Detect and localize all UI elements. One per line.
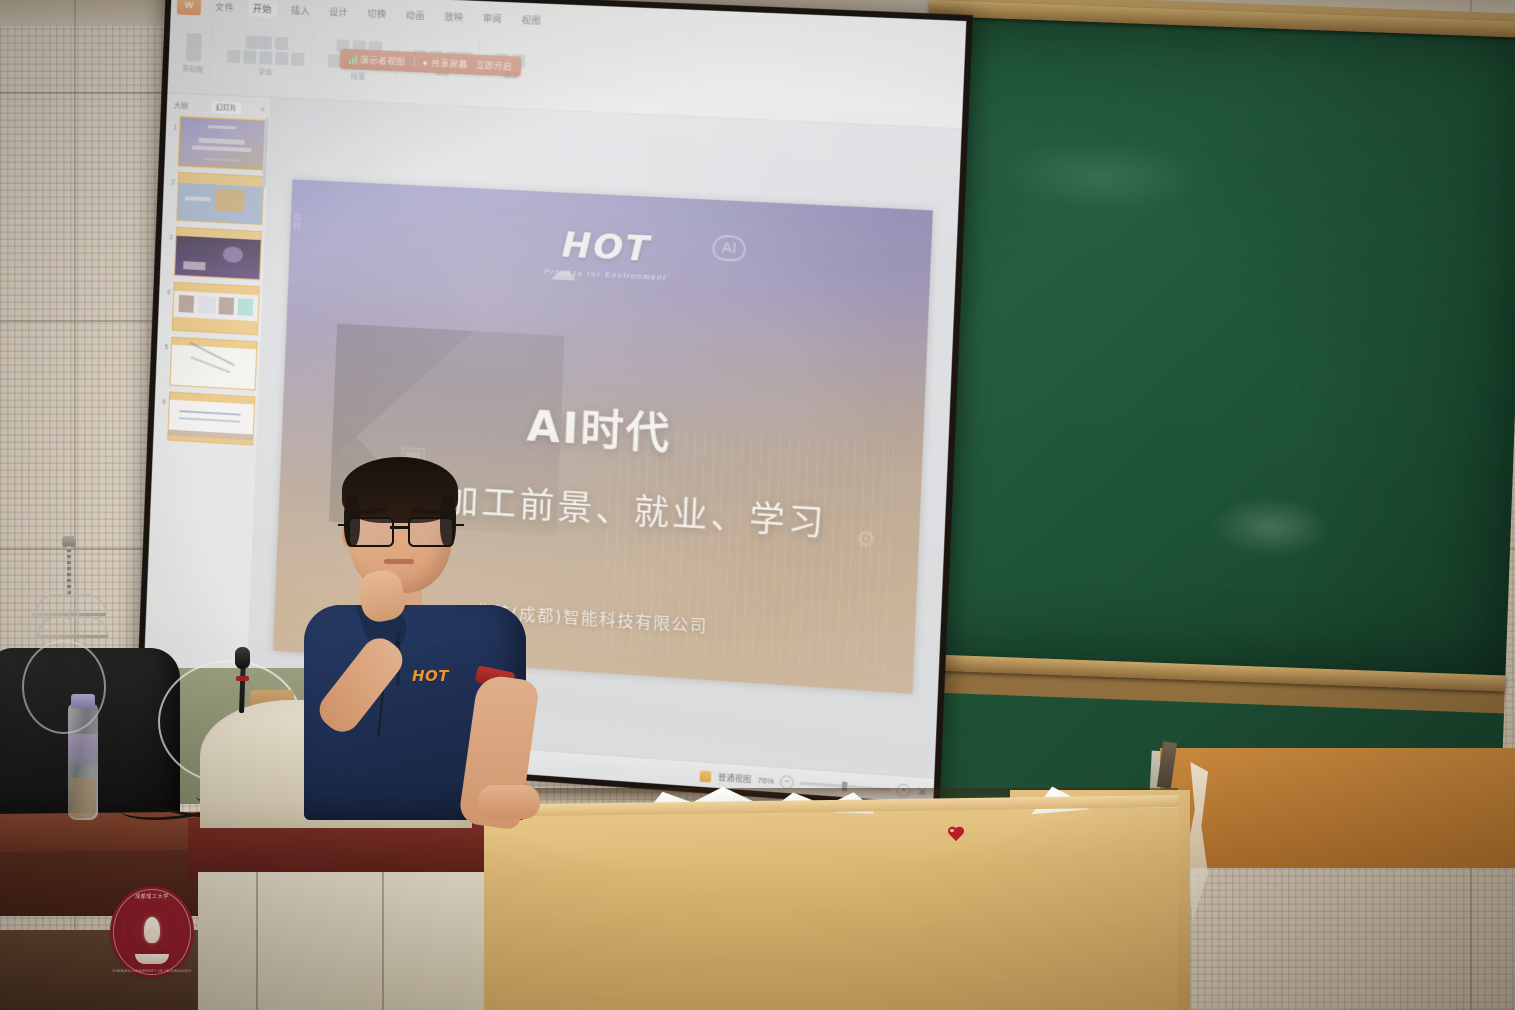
front-desk [478,806,1178,1010]
banner-divider [413,57,414,67]
italic-icon[interactable] [243,50,257,64]
thumbnail-number: 2 [165,171,175,220]
ribbon-group-clipboard: 剪贴板 [176,22,213,86]
presenter-right-hand [478,785,540,819]
hands-icon [135,954,169,964]
heart-highlight [950,829,954,832]
chalk-smudge [1002,137,1204,214]
flame-icon [144,917,160,943]
thumbnail-slide-1[interactable]: 1 [167,116,266,170]
thumbnail-number: 3 [163,226,173,275]
zoom-value: 76% [757,775,774,785]
ribbon-group-label: 段落 [351,71,366,82]
eyeglass-lens [348,517,394,547]
thumbnail-slide-5[interactable]: 5 [158,336,257,390]
banner-cta-label[interactable]: 立即开启 [476,59,513,73]
tab-review[interactable]: 审阅 [477,9,507,27]
tab-insert[interactable]: 插入 [286,1,316,19]
thumbnail-preview [169,337,257,391]
hanger-hook [66,588,77,598]
tab-view[interactable]: 视图 [516,10,546,28]
chalkboard [902,0,1515,775]
thumbnail-number: 6 [156,391,166,440]
bottle-label [68,734,98,764]
shirt-brand-logo: HOT [412,667,449,685]
heart-sticker [947,827,965,844]
microphone-head [235,647,250,669]
eyeglass-lens [408,517,454,547]
view-label: 普通视图 [718,771,752,785]
thumbnail-panel-header: 大纲 幻灯片 × [170,97,268,116]
underline-icon[interactable] [259,51,273,65]
tab-transition[interactable]: 切换 [362,4,392,22]
thumbnail-preview [178,117,266,170]
ribbon-group-font: 字体 [220,23,313,89]
tab-slideshow[interactable]: 放映 [439,7,469,25]
thumbnail-preview [172,282,260,336]
cloud-icon: ☁ [549,255,577,288]
university-emblem: 成都理工大学 CHENGDU UNIVERSITY OF TECHNOLOGY [110,886,194,978]
chart-bars-icon [349,55,357,64]
wps-logo-icon[interactable]: W [177,0,202,15]
banner-chip-label: 演示者视图 [360,54,406,68]
bottle-contents [70,778,96,818]
font-color-icon[interactable] [291,52,305,66]
paste-icon[interactable] [186,32,202,61]
bottle-cap [71,694,95,708]
tab-design[interactable]: 设计 [324,2,354,20]
tab-file[interactable]: 文件 [210,0,240,16]
eyeglass-temple [454,524,464,526]
close-icon[interactable]: × [260,104,267,113]
eyeglasses [348,517,454,543]
lectern-panel-seam [256,872,258,1010]
font-size-box[interactable] [274,36,288,50]
thumbnail-preview [174,227,262,280]
thumbnail-slide-3[interactable]: 3 [163,226,262,280]
tab-home[interactable]: 开始 [248,0,278,17]
thumbnail-preview [167,392,255,446]
thumbnail-preview [176,172,264,225]
thumbnail-tab-outline[interactable]: 大纲 [170,99,192,112]
lectern-front-panel [198,872,484,1010]
ribbon-group-label: 字体 [258,67,272,78]
zoom-out-button[interactable]: − [780,775,794,789]
emblem-top-text: 成都理工大学 [110,893,194,900]
eyeglass-temple [338,524,348,526]
banner-chip: 演示者视图 [349,53,406,68]
banner-action[interactable]: ● 共享屏幕 [422,56,468,70]
thumbnail-number: 4 [161,281,171,330]
microphone-indicator [236,676,249,681]
thumbnail-number: 1 [167,116,177,165]
hanger-hook [68,610,79,620]
font-name-box[interactable] [245,35,272,49]
hanger-bar [34,635,108,638]
bold-icon[interactable] [227,49,241,63]
slide-title: AI时代 [526,392,673,462]
presenter-mouth [384,559,414,564]
chalkboard-surface [906,14,1515,676]
ribbon-group-label: 剪贴板 [182,63,203,74]
thumbnail-tab-slides[interactable]: 幻灯片 [211,101,241,114]
thumbnail-slide-6[interactable]: 6 [156,391,255,446]
coat-hanger [34,614,108,638]
tab-animation[interactable]: 动画 [400,5,430,23]
lectern-panel-seam [382,872,384,1010]
view-normal-icon[interactable] [700,770,712,782]
emblem-center [126,902,178,958]
strikethrough-icon[interactable] [275,51,289,65]
emblem-bottom-text: CHENGDU UNIVERSITY OF TECHNOLOGY [110,969,194,973]
thumbnail-slide-2[interactable]: 2 [165,171,264,225]
presenter: HOT [300,455,530,815]
chalk-smudge [1210,495,1332,559]
orange-wall-panel [1160,748,1515,868]
ai-brain-icon: AI [712,235,747,262]
thumbnail-number: 5 [158,336,168,385]
thumbnail-slide-4[interactable]: 4 [161,281,260,335]
share-screen-icon: ● [422,57,428,67]
gear-icon: ⚙ [855,525,877,553]
lecture-hall-scene: W 文件 开始 插入 设计 切换 动画 放映 审阅 视图 剪贴板 [0,0,1515,1010]
banner-action-label: 共享屏幕 [431,57,468,71]
eyeglass-bridge [390,526,408,529]
brand-chinese-name: 华特 [292,214,302,231]
